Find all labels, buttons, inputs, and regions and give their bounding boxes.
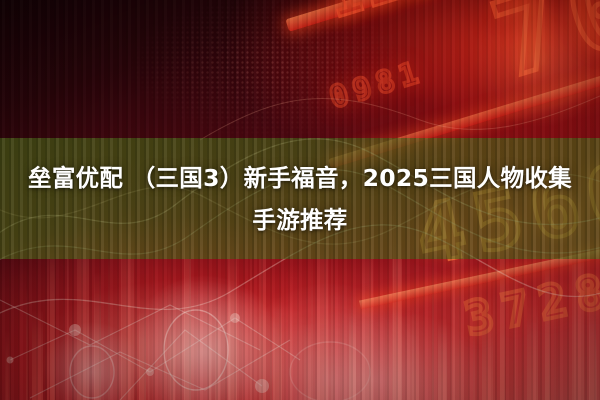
banner-image: 1265 70 0981 4560 3728 xyxy=(0,0,600,400)
caption-band: 垒富优配 （三国3）新手福音，2025三国人物收集手游推荐 xyxy=(0,138,600,259)
caption-text: 垒富优配 （三国3）新手福音，2025三国人物收集手游推荐 xyxy=(22,157,578,241)
